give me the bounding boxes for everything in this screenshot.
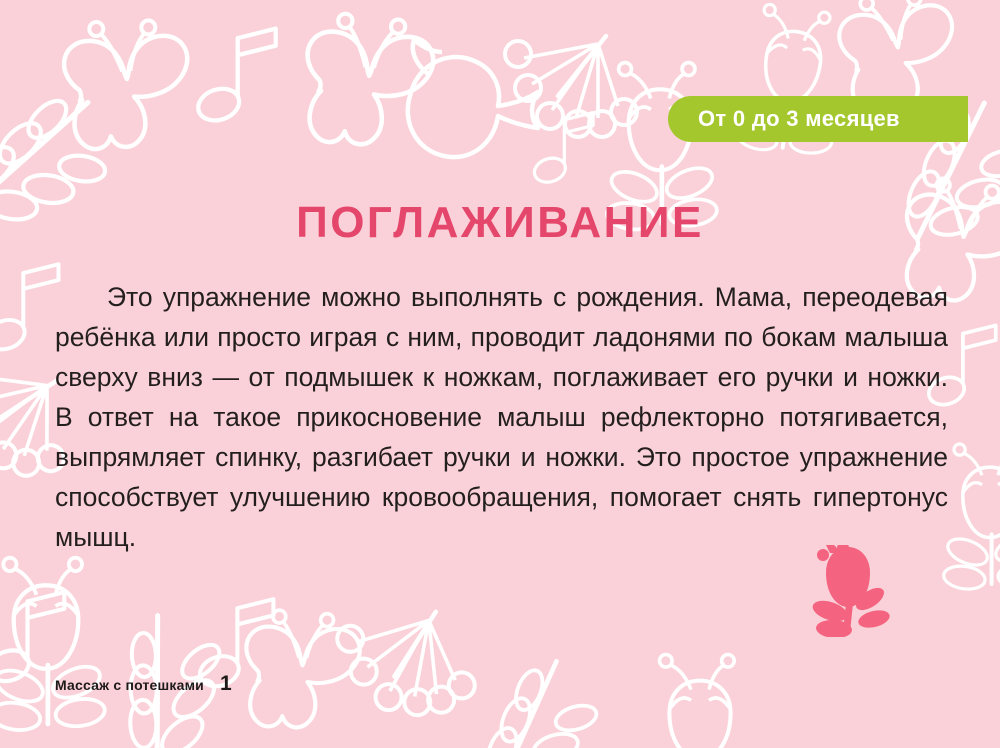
footer: Массаж с потешками 1 [55,672,232,696]
age-range-badge-label: От 0 до 3 месяцев [698,106,900,132]
footer-book-title: Массаж с потешками [55,677,204,693]
decor-berries-bottom [335,608,477,722]
decor-music-note-left-a [0,264,58,354]
body-paragraph: Это упражнение можно выполнять с рождени… [55,277,948,557]
decor-tulip-bottom-right [646,655,757,748]
decor-butterfly-bottom [244,609,361,729]
decor-butterfly-topleft [61,16,193,151]
decor-music-note-top-b [531,113,593,186]
decor-butterfly-top-b [302,11,436,149]
page-canvas: От 0 до 3 месяцев ПОГЛАЖИВАНИЕ Это упраж… [0,0,1000,748]
decor-duck-top [408,40,538,157]
decor-tulip-bottom-left [0,558,107,733]
age-range-badge: От 0 до 3 месяцев [668,96,968,142]
page-title: ПОГЛАЖИВАНИЕ [0,201,1000,245]
decor-music-note-top-a [194,29,276,126]
decor-tulip-right-low [942,444,1000,592]
page-number: 1 [220,672,232,696]
decor-berries-top [505,36,637,137]
decor-branch-bottom-b [450,646,618,748]
accent-flower-icon [812,545,902,637]
